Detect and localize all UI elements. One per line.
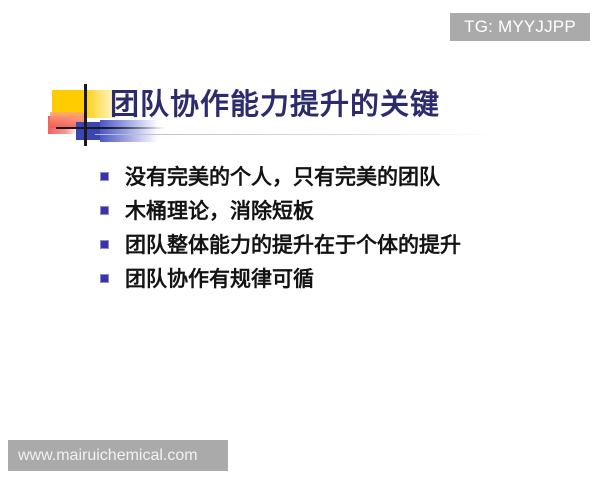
square-bullet-icon: [100, 240, 109, 249]
slide-title-block: 团队协作能力提升的关键: [0, 82, 600, 148]
list-item-label: 团队协作有规律可循: [125, 262, 580, 296]
tg-watermark-badge: TG: MYYJJPP: [450, 13, 590, 41]
ornament-blue-square: [76, 122, 100, 140]
page-title: 团队协作能力提升的关键: [110, 84, 440, 124]
presentation-slide: TG: MYYJJPP 团队协作能力提升的关键 没有完美的个人，只有完美的团队 …: [0, 0, 600, 480]
list-item-label: 木桶理论，消除短板: [125, 194, 580, 228]
title-divider: [95, 134, 495, 135]
square-bullet-icon: [100, 274, 109, 283]
square-bullet-icon: [100, 172, 109, 181]
list-item: 团队整体能力的提升在于个体的提升: [100, 228, 580, 262]
site-url-watermark: www.mairuichemical.com: [8, 440, 228, 471]
list-item: 团队协作有规律可循: [100, 262, 580, 296]
list-item: 木桶理论，消除短板: [100, 194, 580, 228]
list-item-label: 没有完美的个人，只有完美的团队: [125, 160, 580, 194]
ornament-vertical-rule: [84, 84, 87, 146]
list-item-label: 团队整体能力的提升在于个体的提升: [125, 228, 580, 262]
ornament-horizontal-rule: [56, 127, 166, 129]
square-bullet-icon: [100, 206, 109, 215]
list-item: 没有完美的个人，只有完美的团队: [100, 160, 580, 194]
bullet-list: 没有完美的个人，只有完美的团队 木桶理论，消除短板 团队整体能力的提升在于个体的…: [100, 160, 580, 296]
